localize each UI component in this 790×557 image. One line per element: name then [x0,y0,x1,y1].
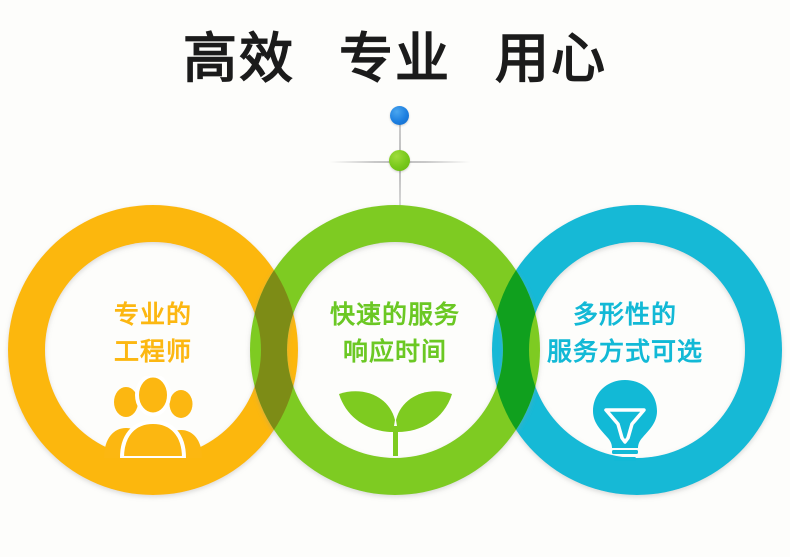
poster-canvas: 高效专业用心 [0,0,790,557]
green-cyan-overlap [0,0,790,557]
venn-diagram [0,0,790,557]
